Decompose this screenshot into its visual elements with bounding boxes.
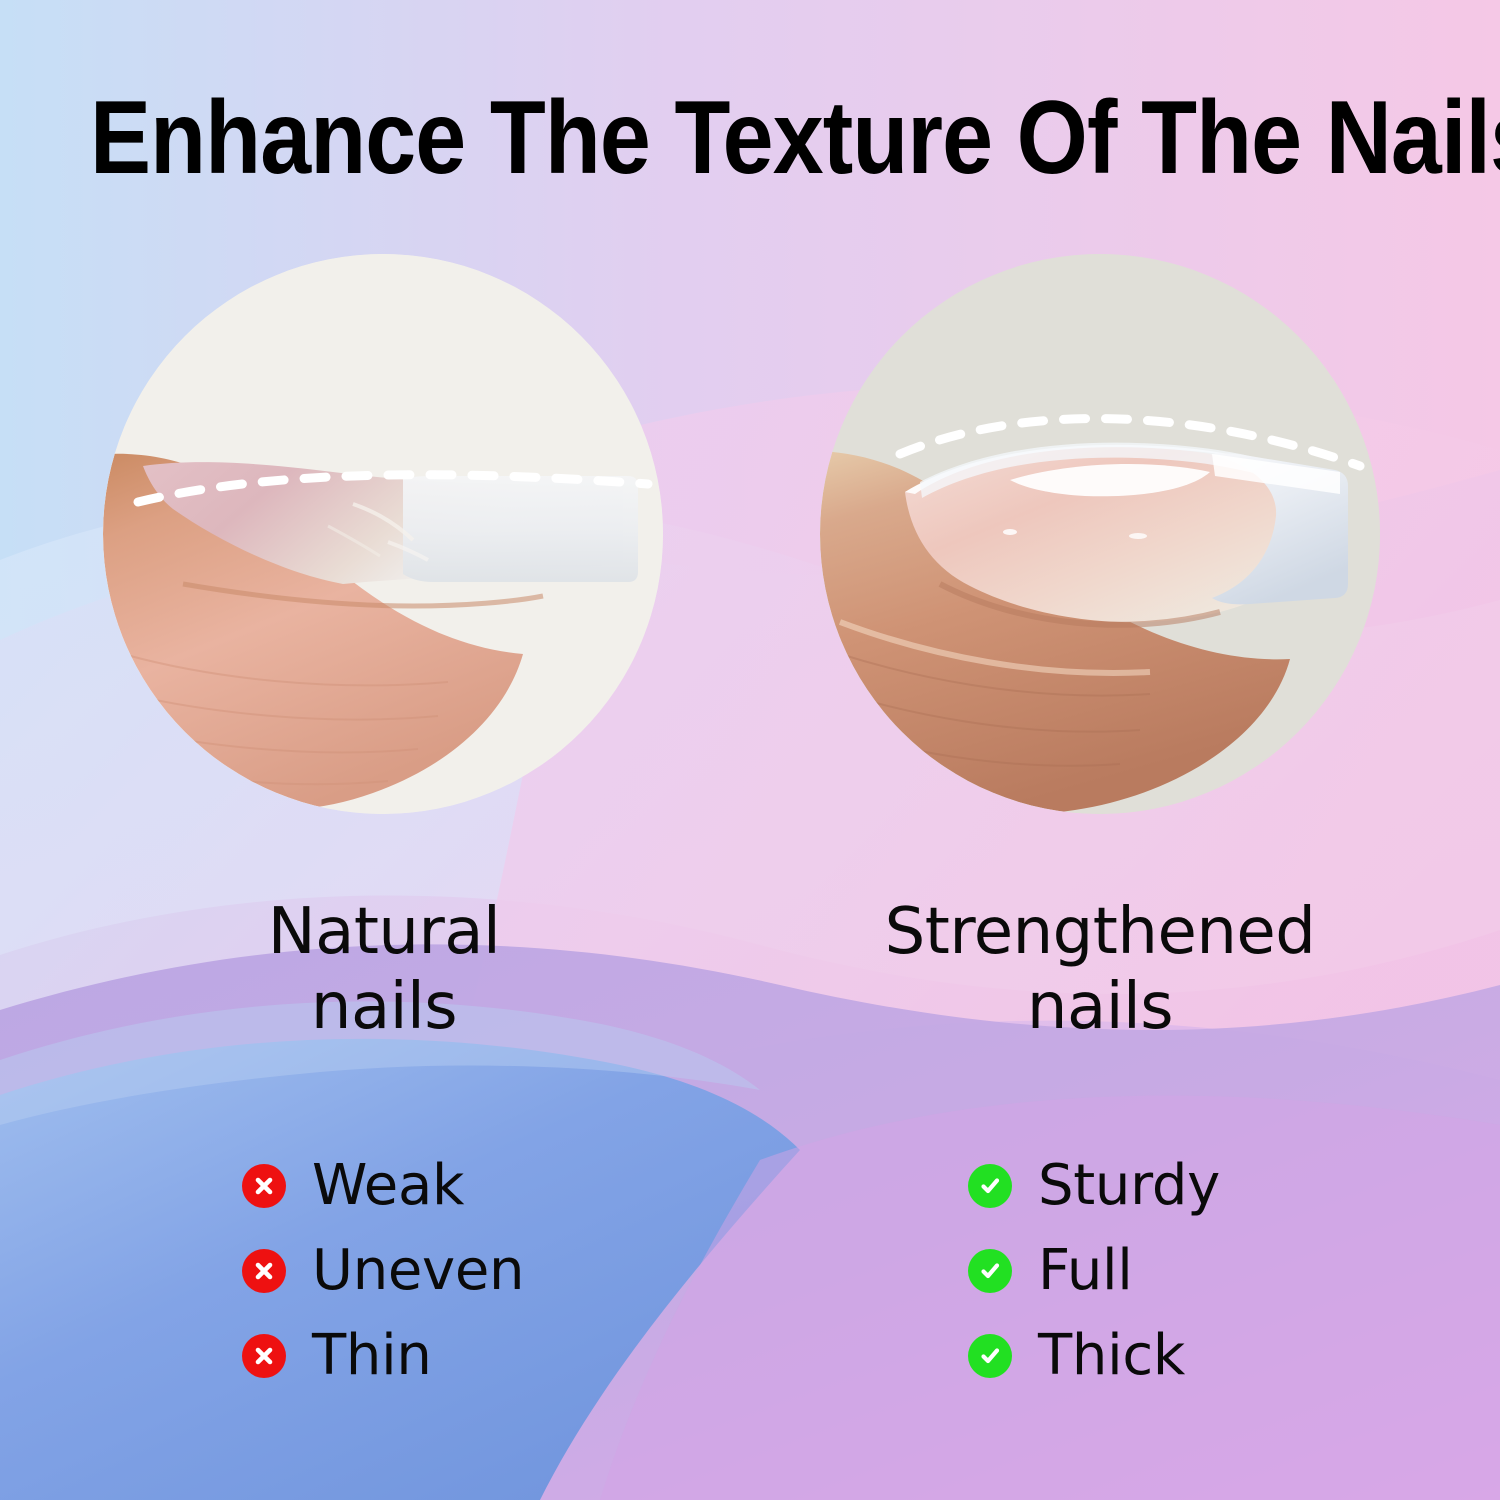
feature-list-strengthened: Sturdy Full Thick	[968, 1143, 1220, 1398]
strengthened-nail-photo	[820, 254, 1380, 814]
list-item: Weak	[242, 1143, 524, 1228]
list-item: Uneven	[242, 1228, 524, 1313]
column-label-natural-line2: nails	[120, 970, 648, 1045]
check-icon	[968, 1249, 1012, 1293]
natural-nail-photo	[103, 254, 663, 814]
list-item: Thin	[242, 1313, 524, 1398]
cross-icon	[242, 1334, 286, 1378]
feature-label: Weak	[312, 1158, 464, 1214]
feature-label: Thin	[312, 1328, 432, 1384]
cross-icon	[242, 1249, 286, 1293]
feature-label: Sturdy	[1038, 1158, 1220, 1214]
cross-icon	[242, 1164, 286, 1208]
strengthened-nail-illustration	[820, 254, 1380, 814]
column-label-natural: Natural nails	[120, 895, 648, 1045]
feature-label: Uneven	[312, 1243, 524, 1299]
check-icon	[968, 1334, 1012, 1378]
column-label-strengthened-line1: Strengthened	[800, 895, 1400, 970]
column-label-strengthened-line2: nails	[800, 970, 1400, 1045]
list-item: Thick	[968, 1313, 1220, 1398]
list-item: Sturdy	[968, 1143, 1220, 1228]
feature-list-natural: Weak Uneven Thin	[242, 1143, 524, 1398]
column-label-natural-line1: Natural	[120, 895, 648, 970]
page-title: Enhance The Texture Of The Nails	[90, 86, 1410, 190]
column-label-strengthened: Strengthened nails	[800, 895, 1400, 1045]
natural-nail-illustration	[103, 254, 663, 814]
check-icon	[968, 1164, 1012, 1208]
feature-label: Full	[1038, 1243, 1133, 1299]
list-item: Full	[968, 1228, 1220, 1313]
feature-label: Thick	[1038, 1328, 1185, 1384]
